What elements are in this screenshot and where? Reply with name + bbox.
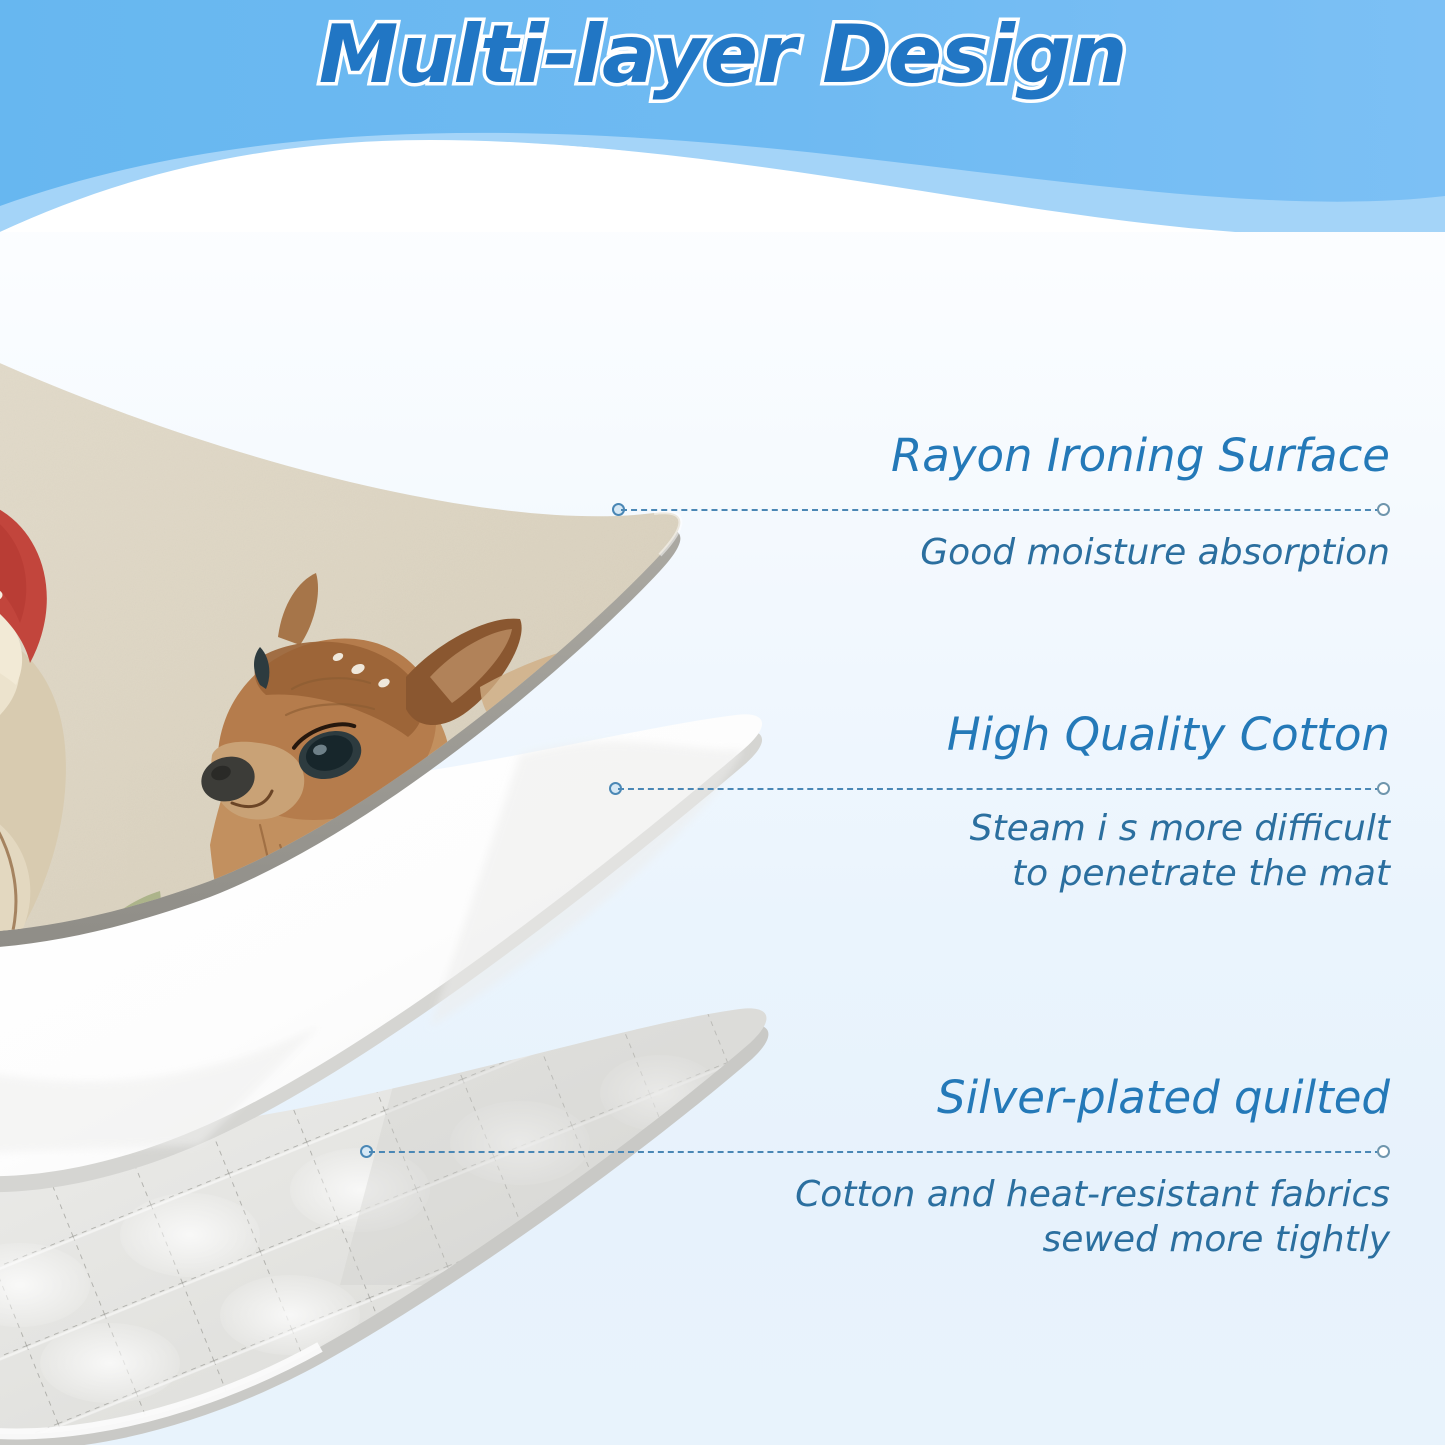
callout-rayon-description: Good moisture absorption: [700, 530, 1390, 575]
callout-high-quality-cotton: High Quality Cotton: [700, 711, 1390, 760]
product-layer-stack: [0, 285, 820, 1445]
page-title: Multi-layer Design: [0, 8, 1445, 101]
leader-end-dot-quilted: [1377, 1145, 1390, 1158]
leader-line-quilted: [360, 1143, 1390, 1161]
callout-rayon-ironing-surface: Rayon Ironing Surface: [700, 432, 1390, 481]
callout-title-rayon: Rayon Ironing Surface: [700, 432, 1390, 481]
callout-sub-rayon: Good moisture absorption: [700, 530, 1390, 575]
callout-title-cotton: High Quality Cotton: [700, 711, 1390, 760]
leader-line-rayon: [612, 501, 1390, 519]
callout-sub-cotton-line-2: to penetrate the mat: [700, 851, 1390, 896]
infographic-page: Multi-layer Design: [0, 0, 1445, 1445]
callout-sub-rayon-line-1: Good moisture absorption: [700, 530, 1390, 575]
callout-silver-plated-quilted: Silver-plated quilted: [660, 1074, 1390, 1123]
header-banner: Multi-layer Design: [0, 0, 1445, 232]
callout-sub-cotton: Steam i s more difficult to penetrate th…: [700, 806, 1390, 896]
callout-title-quilted: Silver-plated quilted: [660, 1074, 1390, 1123]
leader-dash-quilted: [369, 1151, 1381, 1153]
callout-quilted-description: Cotton and heat-resistant fabrics sewed …: [640, 1172, 1390, 1262]
leader-dash-rayon: [621, 509, 1381, 511]
callout-sub-quilted-line-1: Cotton and heat-resistant fabrics: [640, 1172, 1390, 1217]
callout-sub-quilted: Cotton and heat-resistant fabrics sewed …: [640, 1172, 1390, 1262]
callout-sub-cotton-line-1: Steam i s more difficult: [700, 806, 1390, 851]
callout-cotton-description: Steam i s more difficult to penetrate th…: [700, 806, 1390, 896]
callout-sub-quilted-line-2: sewed more tightly: [640, 1217, 1390, 1262]
leader-dash-cotton: [618, 788, 1381, 790]
leader-end-dot-rayon: [1377, 503, 1390, 516]
leader-end-dot-cotton: [1377, 782, 1390, 795]
leader-line-cotton: [609, 780, 1390, 798]
